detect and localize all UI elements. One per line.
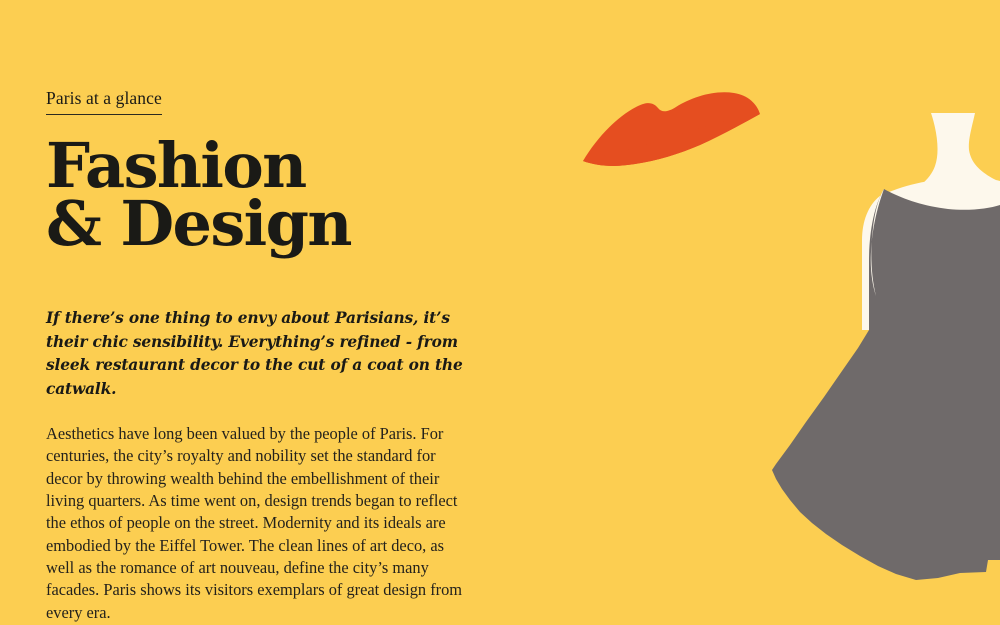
magazine-spread: Paris at a glance Fashion & Design If th… <box>0 0 1000 625</box>
gray-dress-icon <box>772 189 1000 580</box>
kicker-label: Paris at a glance <box>46 88 162 115</box>
text-column: Paris at a glance Fashion & Design If th… <box>46 88 476 624</box>
body-paragraph: Aesthetics have long been valued by the … <box>46 423 464 624</box>
page-title: Fashion & Design <box>46 137 476 254</box>
mannequin-bust-icon <box>862 113 1000 330</box>
red-lips-icon <box>583 92 760 166</box>
standfirst-paragraph: If there’s one thing to envy about Paris… <box>46 307 466 401</box>
